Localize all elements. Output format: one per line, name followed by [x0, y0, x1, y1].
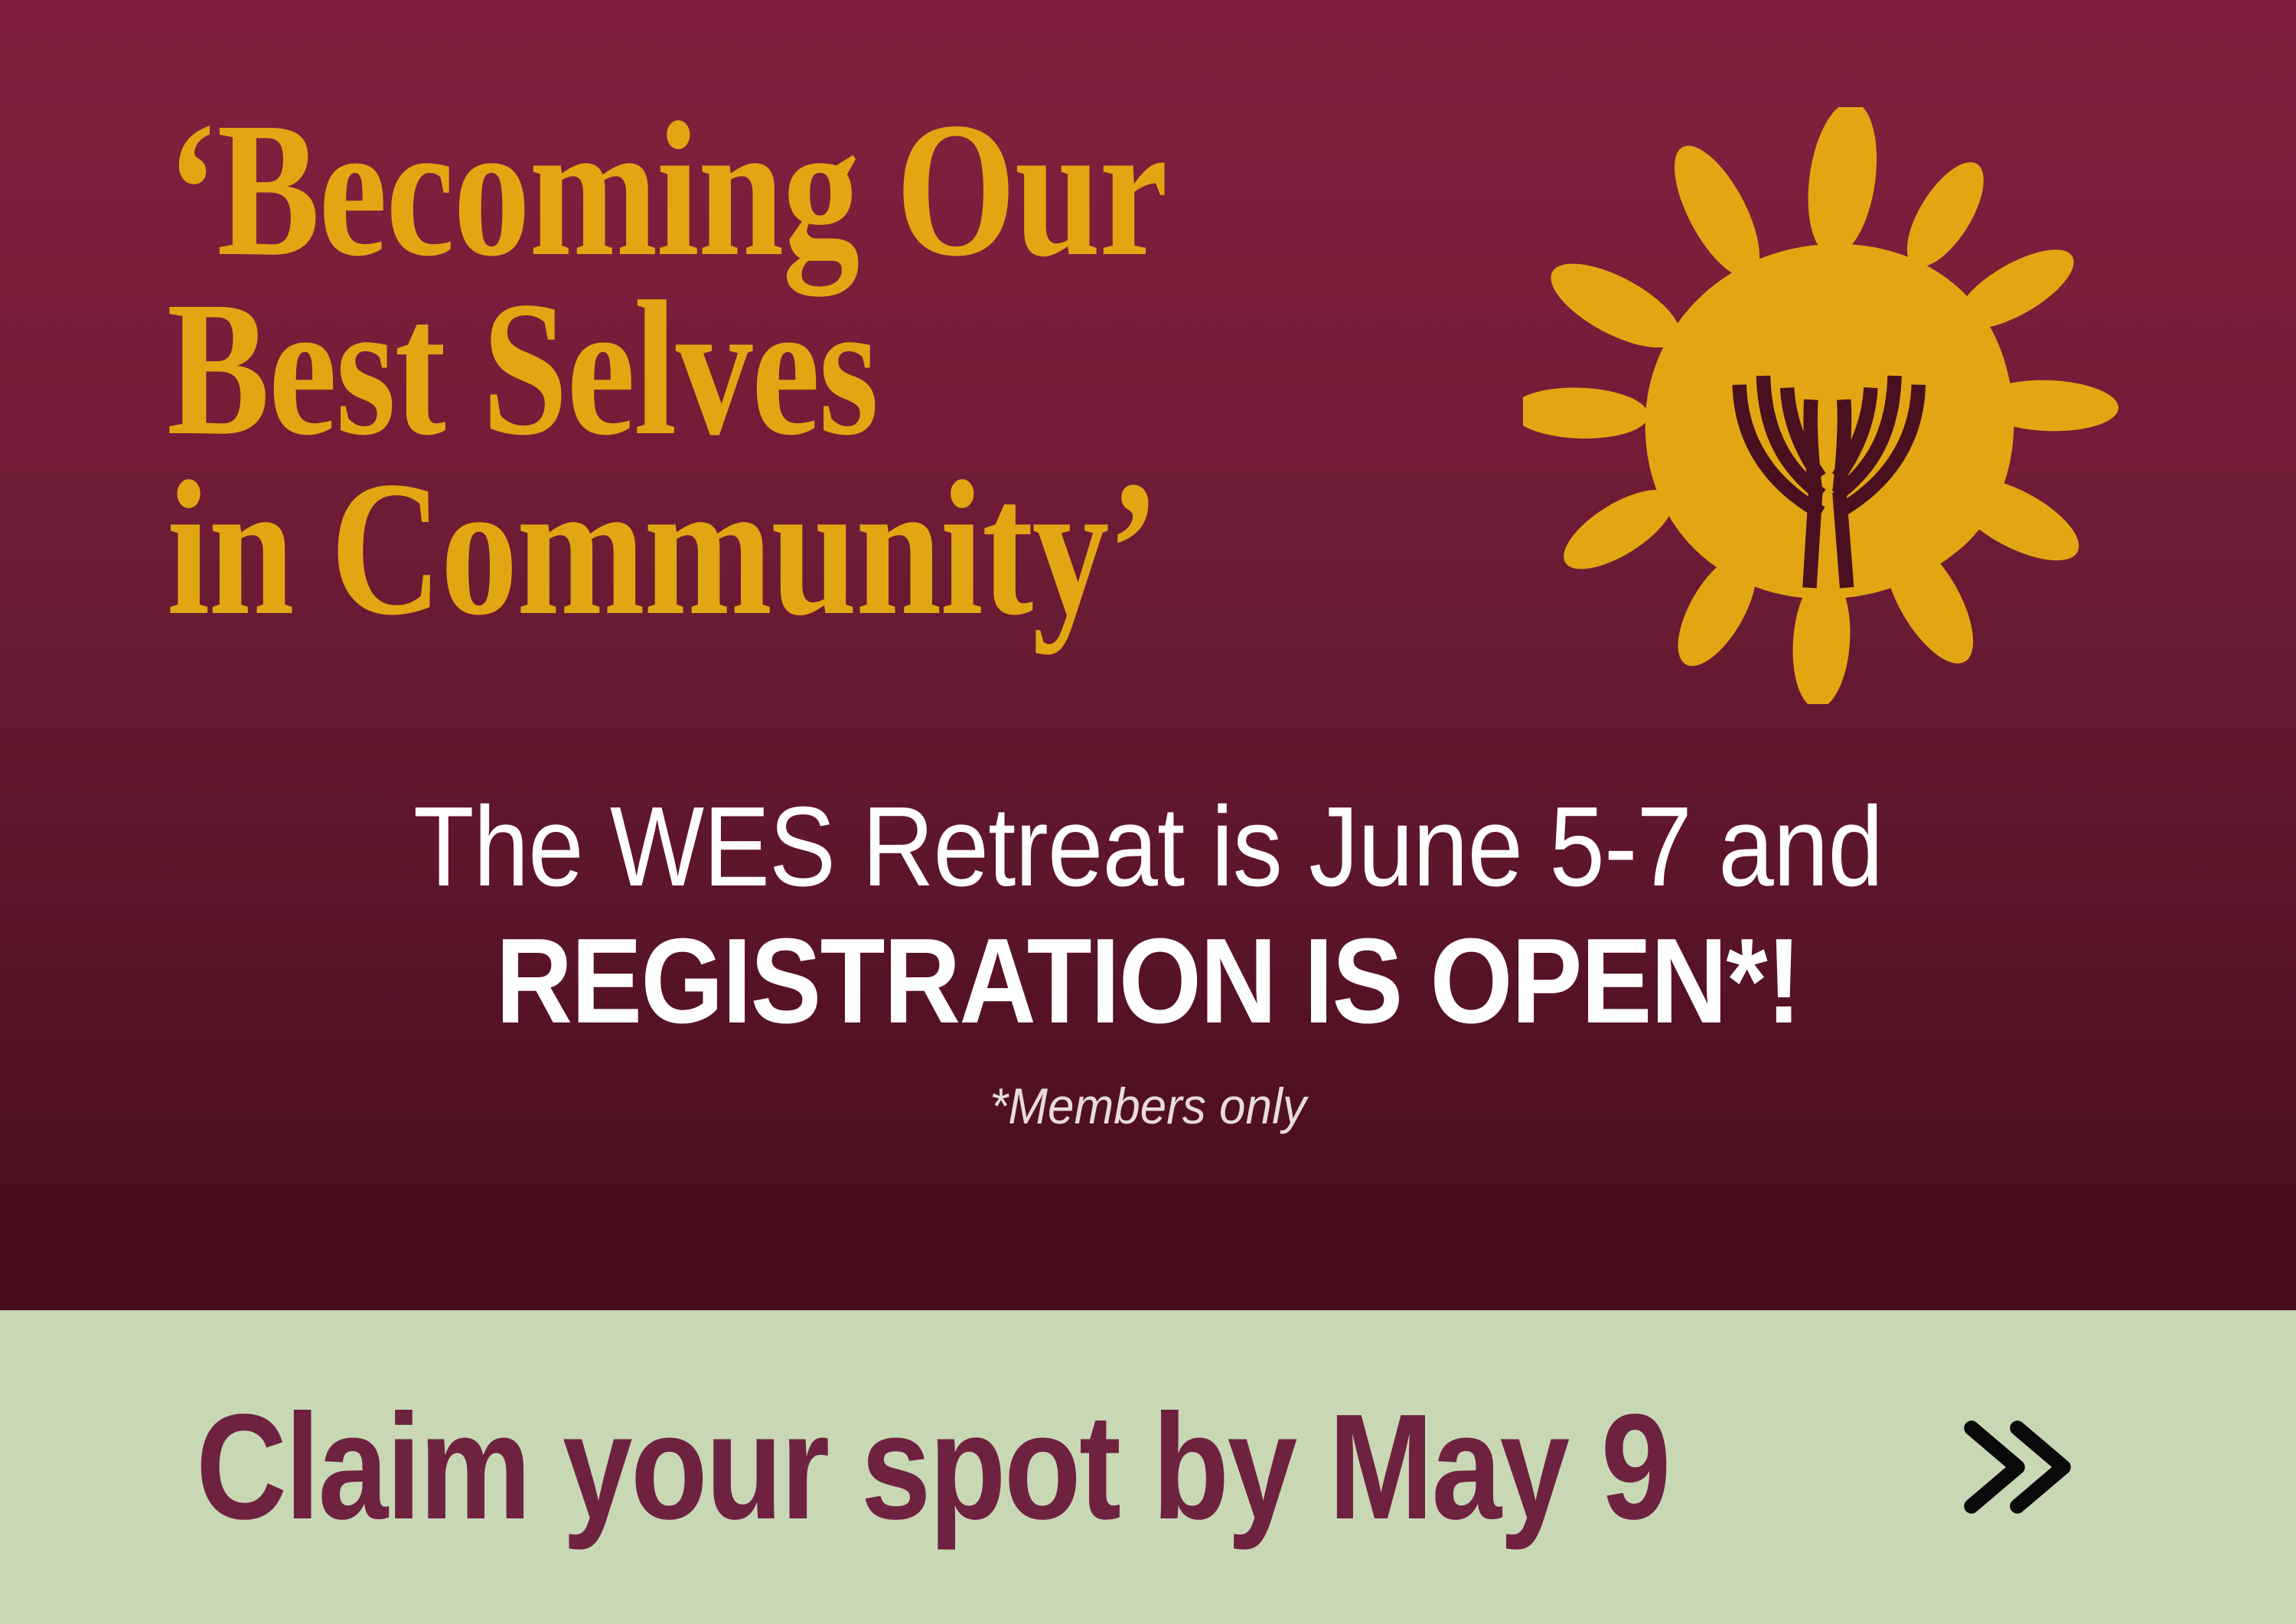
sun-with-tree-menorah-logo [1523, 107, 2120, 704]
headline-line-3: in Community’ [167, 458, 1257, 638]
wes-retreat-promo-banner: ‘Becoming Our Best Selves in Community’ [0, 0, 2296, 1624]
headline-line-2: Best Selves [167, 279, 1257, 458]
retreat-dates-text: The WES Retreat is June 5-7 and [138, 788, 2158, 906]
page-title: ‘Becoming Our Best Selves in Community’ [167, 99, 1257, 638]
double-chevron-right-icon[interactable] [1951, 1410, 2079, 1525]
cta-inner[interactable]: Claim your spot by May 9 [196, 1392, 2079, 1542]
cta-label[interactable]: Claim your spot by May 9 [196, 1392, 1669, 1542]
registration-open-text: REGISTRATION IS OPEN*! [138, 920, 2158, 1043]
hero-panel: ‘Becoming Our Best Selves in Community’ [0, 0, 2296, 1310]
sun-disc [1645, 244, 2014, 599]
subcopy-block: The WES Retreat is June 5-7 and REGISTRA… [0, 788, 2296, 1134]
members-only-footnote: *Members only [69, 1078, 2227, 1134]
cta-band[interactable]: Claim your spot by May 9 [0, 1310, 2296, 1624]
headline-line-1: ‘Becoming Our [167, 99, 1257, 279]
